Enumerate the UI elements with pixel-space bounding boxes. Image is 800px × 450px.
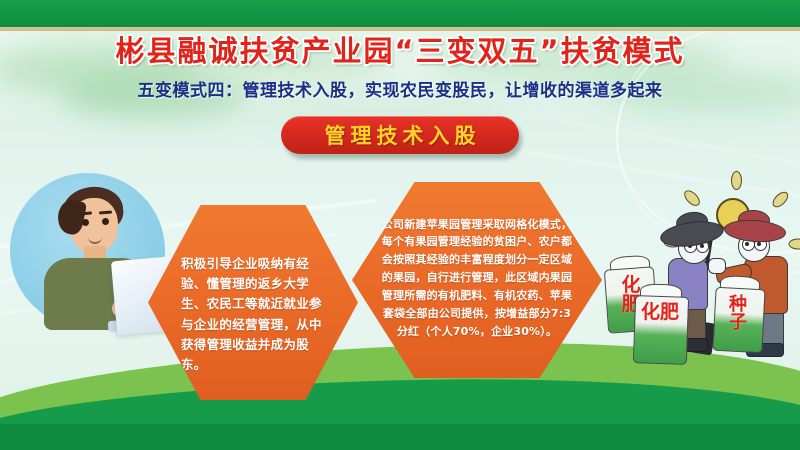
farmer-pupil — [757, 242, 761, 246]
panel-left-text: 积极引导企业吸纳有经验、懂管理的返乡大学生、农民工等就近就业参与企业的经营管理，… — [181, 254, 325, 376]
sun-ray — [789, 239, 800, 250]
banner-pill: 管理技术入股 — [281, 116, 519, 154]
poster-canvas: 彬县融诚扶贫产业园“三变双五”扶贫模式 五变模式四：管理技术入股，实现农民变股民… — [0, 0, 800, 450]
sack-label: 化肥 — [641, 303, 679, 322]
sack-label: 种子 — [721, 296, 755, 332]
top-green-band — [0, 0, 800, 27]
farmer-pupil — [745, 242, 749, 246]
section-banner: 管理技术入股 — [281, 116, 519, 156]
sun-ray — [731, 171, 742, 190]
farmer-hand — [708, 258, 726, 274]
page-title: 彬县融诚扶贫产业园“三变双五”扶贫模式 — [0, 28, 800, 70]
panel-right-text: 公司新建苹果园管理采取网格化模式，每个有果园管理经验的贫困户、农户都会按照其经验… — [379, 216, 575, 341]
person-eye — [82, 219, 89, 226]
banner-label: 管理技术入股 — [320, 120, 481, 150]
page-subtitle: 五变模式四：管理技术入股，实现农民变股民，让增收的渠道多起来 — [0, 76, 800, 101]
person-eye — [102, 218, 109, 225]
ground-band-deep — [0, 424, 800, 450]
